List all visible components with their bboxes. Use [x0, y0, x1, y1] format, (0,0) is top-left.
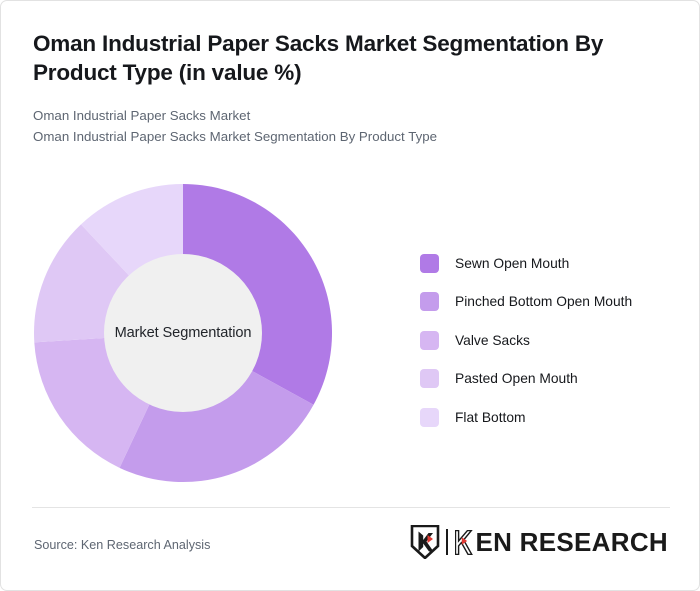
legend-swatch-icon — [420, 369, 439, 388]
source-note: Source: Ken Research Analysis — [34, 538, 210, 552]
legend-item[interactable]: Flat Bottom — [420, 398, 632, 437]
legend-swatch-icon — [420, 292, 439, 311]
legend-item[interactable]: Valve Sacks — [420, 321, 632, 360]
brand-wordmark: EN RESEARCH — [455, 529, 668, 555]
legend-item-label: Valve Sacks — [455, 333, 530, 348]
legend-swatch-icon — [420, 254, 439, 273]
subtitle-primary: Oman Industrial Paper Sacks Market — [33, 105, 673, 127]
legend-item[interactable]: Pinched Bottom Open Mouth — [420, 283, 632, 322]
footer-divider — [32, 507, 670, 508]
page-title: Oman Industrial Paper Sacks Market Segme… — [33, 29, 673, 88]
ken-research-logo: EN RESEARCH — [410, 525, 668, 559]
donut-chart: Market Segmentation — [34, 184, 332, 482]
legend-item-label: Pasted Open Mouth — [455, 371, 578, 386]
brand-k-icon — [455, 530, 474, 555]
legend-swatch-icon — [420, 331, 439, 350]
chart-header: Oman Industrial Paper Sacks Market Segme… — [33, 29, 673, 148]
chart-card: Oman Industrial Paper Sacks Market Segme… — [0, 0, 700, 591]
logo-divider — [446, 529, 448, 555]
chart-legend: Sewn Open MouthPinched Bottom Open Mouth… — [420, 244, 632, 437]
legend-item[interactable]: Pasted Open Mouth — [420, 360, 632, 399]
subtitle-group: Oman Industrial Paper Sacks Market Oman … — [33, 105, 673, 148]
legend-item-label: Flat Bottom — [455, 410, 526, 425]
brand-name-text: EN RESEARCH — [475, 529, 668, 555]
legend-item[interactable]: Sewn Open Mouth — [420, 244, 632, 283]
shield-logo-icon — [410, 525, 440, 559]
legend-item-label: Sewn Open Mouth — [455, 256, 569, 271]
donut-hole — [104, 254, 262, 412]
legend-item-label: Pinched Bottom Open Mouth — [455, 294, 632, 309]
legend-swatch-icon — [420, 408, 439, 427]
subtitle-secondary: Oman Industrial Paper Sacks Market Segme… — [33, 126, 673, 148]
donut-svg — [34, 184, 332, 482]
